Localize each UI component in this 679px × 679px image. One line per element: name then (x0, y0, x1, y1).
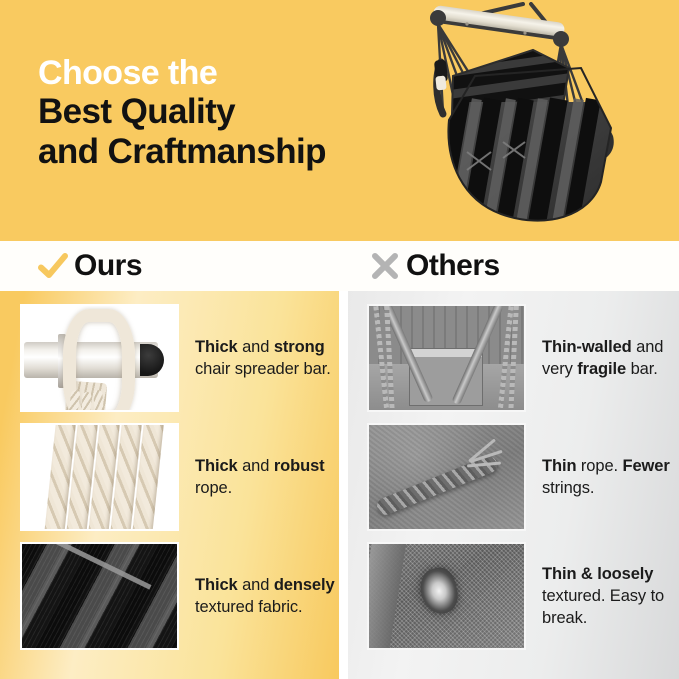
ours-panel: Thick and strong chair spreader bar. Thi… (0, 291, 339, 679)
others-caption-2: Thin rope. Fewer strings. (542, 455, 679, 499)
ours-item-2: Thick and robust rope. (0, 422, 359, 532)
others-image-torn-fabric (367, 542, 526, 650)
others-label: Others (406, 251, 500, 281)
others-caption-3: Thin & loosely textured. Easy to break. (542, 563, 679, 629)
others-caption-3-bold-1: Thin & loosely (542, 565, 653, 583)
others-caption-1-bold-1: Thin-walled (542, 338, 632, 356)
ours-caption-3-mid-1: and (238, 576, 274, 594)
hero-line-3: and Craftmanship (38, 132, 326, 172)
ours-image-spreader-bar (20, 304, 179, 412)
hero-line-1: Choose the (38, 54, 326, 92)
others-image-thin-bar (367, 304, 526, 412)
ours-header: Ours (0, 241, 339, 291)
others-header: Others (339, 241, 678, 291)
others-item-3: Thin & loosely textured. Easy to break. (348, 541, 679, 651)
ours-caption-1-bold-1: Thick (195, 338, 238, 356)
ours-caption-3-tail: textured fabric. (195, 598, 303, 616)
others-caption-1: Thin-walled and very fragile bar. (542, 336, 679, 380)
ours-caption-1-mid-1: and (238, 338, 274, 356)
hammock-chair-image (405, 2, 667, 234)
ours-caption-2-tail: rope. (195, 479, 232, 497)
cross-icon (368, 249, 402, 283)
others-caption-1-bold-2: fragile (577, 360, 626, 378)
comparison-header-row: Ours Others (0, 241, 679, 291)
others-item-2: Thin rope. Fewer strings. (348, 422, 679, 532)
ours-caption-3-bold-1: Thick (195, 576, 238, 594)
ours-label: Ours (74, 251, 142, 281)
ours-caption-3-bold-2: densely (274, 576, 335, 594)
others-image-thin-rope (367, 423, 526, 531)
others-caption-1-tail: bar. (626, 360, 658, 378)
check-icon (36, 249, 70, 283)
hero-line-2: Best Quality (38, 92, 326, 132)
ours-caption-2-mid-1: and (238, 457, 274, 475)
others-caption-2-bold-2: Fewer (623, 457, 670, 475)
others-caption-2-mid-1: rope. (576, 457, 622, 475)
comparison-panels: Thick and strong chair spreader bar. Thi… (0, 291, 679, 679)
ours-image-rope (20, 423, 179, 531)
page-title: Choose the Best Quality and Craftmanship (38, 54, 326, 172)
ours-caption-1-bold-2: strong (274, 338, 325, 356)
others-caption-2-tail: strings. (542, 479, 594, 497)
ours-item-1: Thick and strong chair spreader bar. (0, 303, 359, 413)
ours-caption-1: Thick and strong chair spreader bar. (195, 336, 359, 380)
ours-caption-2-bold-1: Thick (195, 457, 238, 475)
ours-image-fabric (20, 542, 179, 650)
others-panel: Thin-walled and very fragile bar. Thin r… (348, 291, 679, 679)
ours-caption-2: Thick and robust rope. (195, 455, 359, 499)
others-caption-2-bold-1: Thin (542, 457, 576, 475)
others-caption-3-mid-1: textured. (542, 587, 605, 605)
ours-caption-1-tail: chair spreader bar. (195, 360, 331, 378)
ours-item-3: Thick and densely textured fabric. (0, 541, 359, 651)
ours-caption-3: Thick and densely textured fabric. (195, 574, 359, 618)
others-item-1: Thin-walled and very fragile bar. (348, 303, 679, 413)
ours-caption-2-bold-2: robust (274, 457, 325, 475)
hero-banner: Choose the Best Quality and Craftmanship (0, 0, 679, 241)
